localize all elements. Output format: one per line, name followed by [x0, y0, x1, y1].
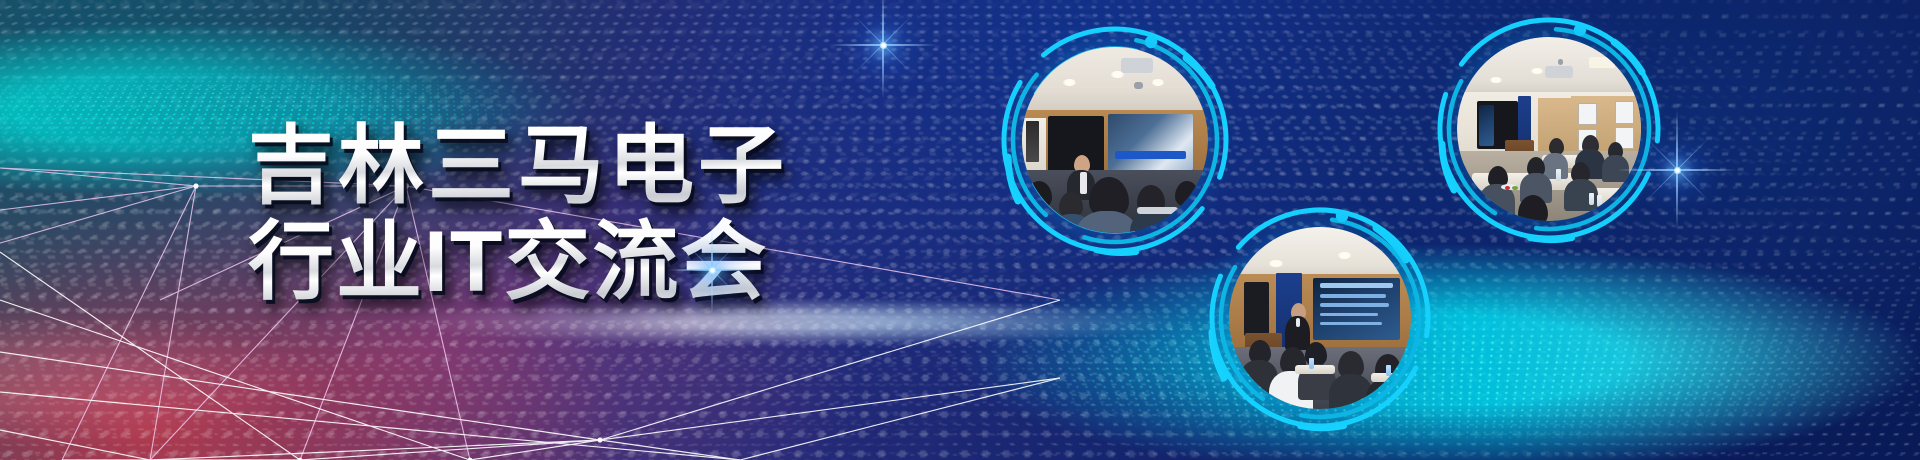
photo-speaker-microphone — [1208, 206, 1432, 430]
event-banner: 吉林三马电子 行业IT交流会 — [0, 0, 1920, 460]
photo-lecture-hall — [1000, 25, 1230, 255]
photo-conference-room-image — [1457, 37, 1641, 221]
page-title: 吉林三马电子 行业IT交流会 — [248, 118, 848, 311]
headline-line-1: 吉林三马电子 — [248, 118, 848, 214]
photo-conference-room — [1436, 16, 1662, 242]
photo-speaker-microphone-image — [1229, 227, 1411, 409]
headline-line-2: 行业IT交流会 — [248, 214, 848, 310]
photo-lecture-hall-image — [1022, 47, 1208, 233]
